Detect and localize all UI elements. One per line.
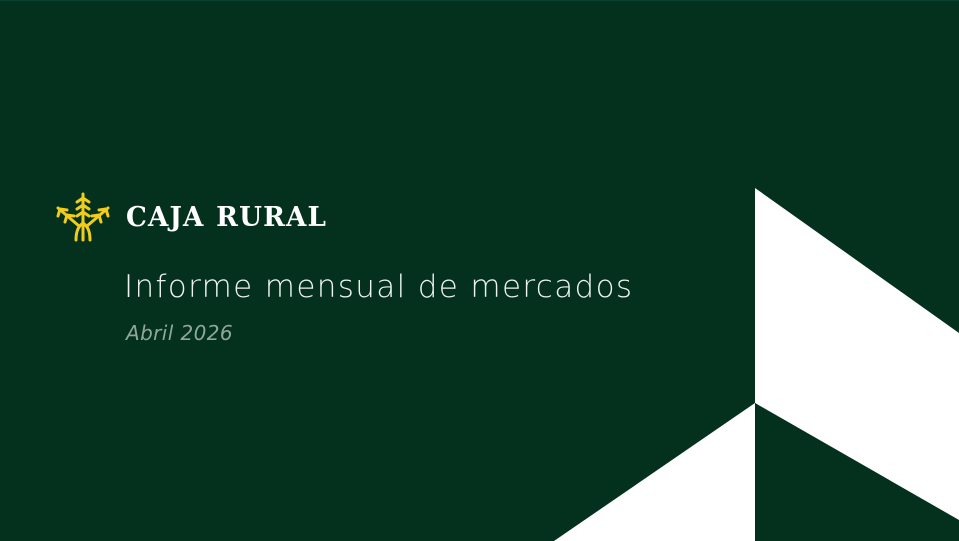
page-subtitle-date: Abril 2026 [126, 321, 633, 345]
brand-word-caja: CAJA [126, 202, 205, 233]
brand-logo: CAJARURAL [52, 191, 333, 243]
white-lower-chevron [554, 403, 755, 541]
brand-word-rural: RURAL [216, 202, 327, 233]
brand-wordmark: CAJARURAL [126, 204, 327, 231]
title-slide: CAJARURAL Informe mensual de mercados Ab… [0, 0, 959, 541]
white-upper-chevron [755, 188, 959, 541]
page-title: Informe mensual de mercados [124, 268, 633, 307]
top-edge-hairline [0, 0, 959, 1]
title-block: Informe mensual de mercados Abril 2026 [124, 268, 633, 345]
wheat-ears-icon [52, 191, 114, 243]
green-lower-triangle [755, 403, 959, 541]
